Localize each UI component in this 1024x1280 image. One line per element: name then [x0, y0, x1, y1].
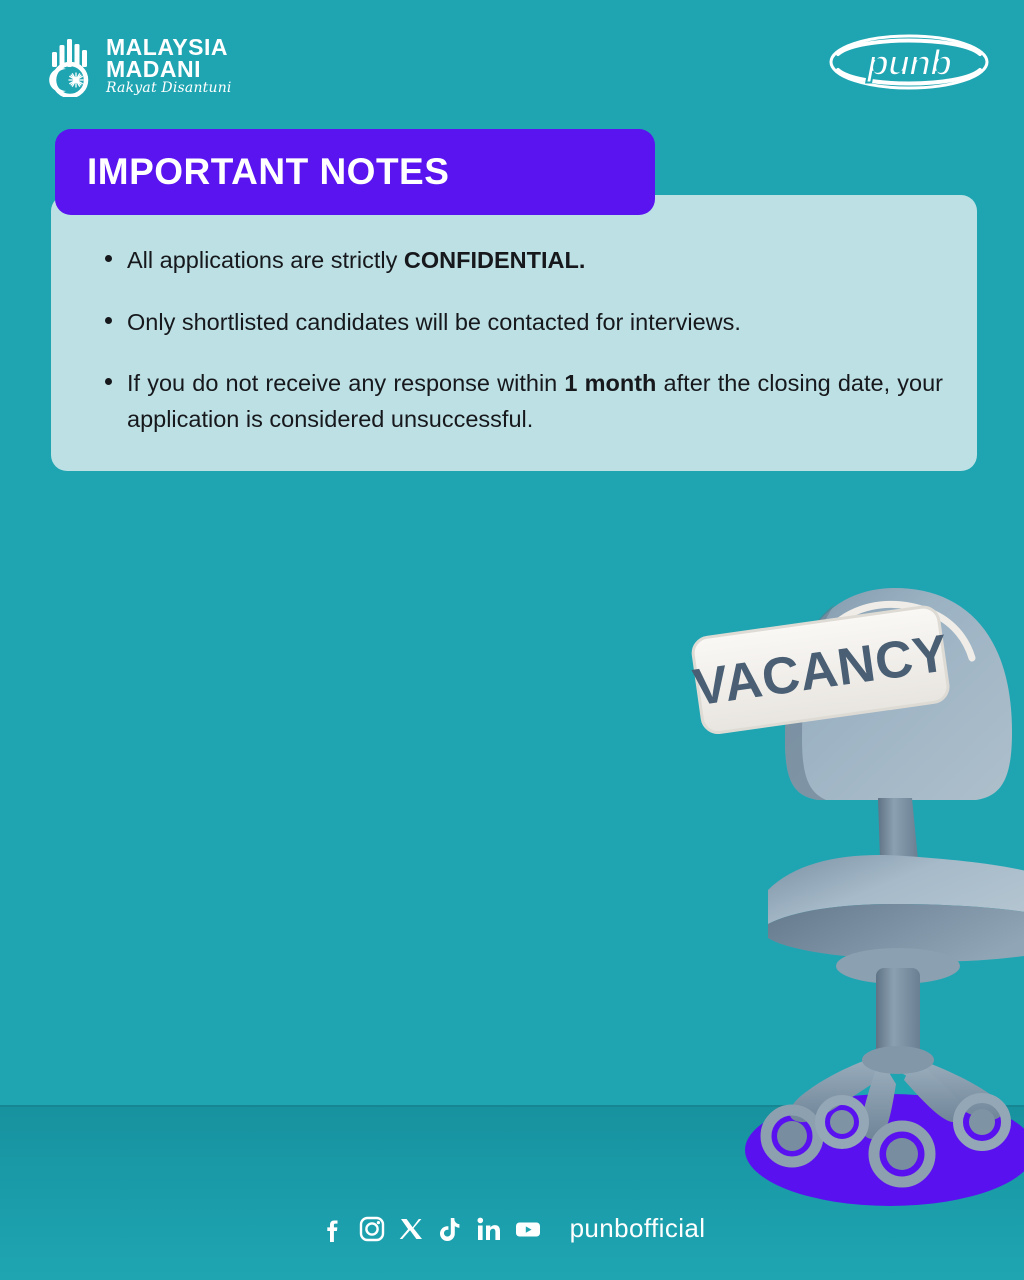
punb-logo: punb	[824, 26, 994, 98]
bullet-dot	[105, 255, 112, 262]
note-item: If you do not receive any response withi…	[85, 366, 943, 437]
note-bold: 1 month	[564, 370, 656, 396]
note-bold: CONFIDENTIAL.	[404, 247, 585, 273]
office-chair-illustration: VACANCY	[690, 560, 1024, 1220]
svg-text:punb: punb	[866, 42, 951, 83]
social-links	[319, 1215, 542, 1243]
poster-canvas: MALAYSIA MADANI Rakyat Disantuni punb IM…	[0, 0, 1024, 1280]
bullet-dot	[105, 317, 112, 324]
punb-wordmark: punb	[866, 42, 951, 83]
social-handle: punbofficial	[570, 1213, 706, 1244]
chair-back-post	[878, 798, 918, 860]
note-text: If you do not receive any response withi…	[127, 370, 564, 396]
note-text: All applications are strictly	[127, 247, 404, 273]
madani-tagline: Rakyat Disantuni	[106, 82, 232, 95]
notes-panel: All applications are strictly CONFIDENTI…	[51, 195, 977, 471]
x-twitter-icon[interactable]	[397, 1215, 425, 1243]
tiktok-icon[interactable]	[436, 1215, 464, 1243]
note-item: All applications are strictly CONFIDENTI…	[85, 243, 943, 279]
madani-line-2: MADANI	[106, 59, 232, 80]
important-notes-banner: IMPORTANT NOTES	[55, 129, 655, 215]
page-title: IMPORTANT NOTES	[87, 151, 449, 193]
facebook-icon[interactable]	[319, 1215, 347, 1243]
youtube-icon[interactable]	[514, 1215, 542, 1243]
malaysia-madani-logo: MALAYSIA MADANI Rakyat Disantuni	[46, 28, 261, 104]
note-item: Only shortlisted candidates will be cont…	[85, 305, 943, 341]
footer: punbofficial	[0, 1213, 1024, 1244]
bullet-dot	[105, 378, 112, 385]
note-text: Only shortlisted candidates will be cont…	[127, 309, 741, 335]
linkedin-icon[interactable]	[475, 1215, 503, 1243]
instagram-icon[interactable]	[358, 1215, 386, 1243]
madani-emblem-icon	[46, 35, 98, 97]
